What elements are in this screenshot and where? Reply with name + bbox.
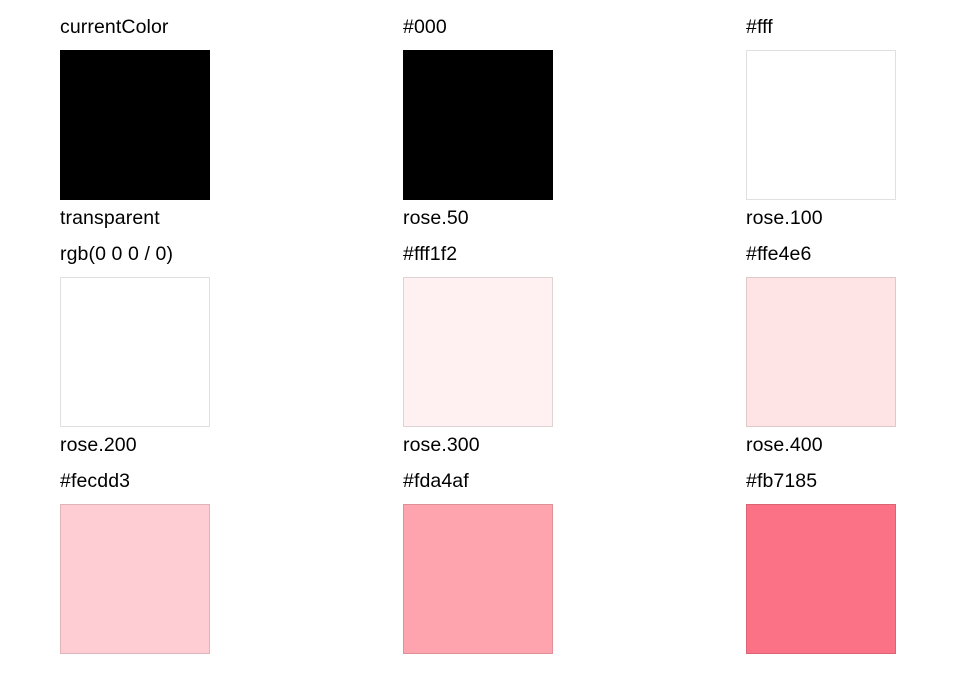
swatch-labels: transparentrgb(0 0 0 / 0) <box>60 200 403 272</box>
swatch-cell: rose.400#fb7185 <box>746 427 964 654</box>
swatch-value-label: #fb7185 <box>746 463 964 499</box>
swatch-name-label: rose.300 <box>403 427 746 463</box>
swatch-cell: #000 <box>403 9 746 200</box>
swatch-labels: currentColor <box>60 9 403 45</box>
swatch-value-label: rgb(0 0 0 / 0) <box>60 236 403 272</box>
swatch-cell: rose.100#ffe4e6 <box>746 200 964 427</box>
color-swatch[interactable] <box>746 277 896 427</box>
color-swatch[interactable] <box>60 504 210 654</box>
swatch-cell: rose.300#fda4af <box>403 427 746 654</box>
swatch-value-label: #ffe4e6 <box>746 236 964 272</box>
color-swatch[interactable] <box>403 50 553 200</box>
color-palette-grid: currentColor#000#ffftransparentrgb(0 0 0… <box>0 0 964 654</box>
color-swatch[interactable] <box>746 504 896 654</box>
swatch-name-label: rose.200 <box>60 427 403 463</box>
swatch-cell: currentColor <box>60 9 403 200</box>
swatch-cell: transparentrgb(0 0 0 / 0) <box>60 200 403 427</box>
swatch-labels: #fff <box>746 9 964 45</box>
swatch-cell: rose.200#fecdd3 <box>60 427 403 654</box>
swatch-value-label: #fecdd3 <box>60 463 403 499</box>
color-swatch[interactable] <box>403 277 553 427</box>
swatch-name-label: rose.400 <box>746 427 964 463</box>
swatch-name-label: currentColor <box>60 9 403 45</box>
swatch-value-label: #fff1f2 <box>403 236 746 272</box>
color-swatch[interactable] <box>60 277 210 427</box>
swatch-value-label: #fda4af <box>403 463 746 499</box>
swatch-cell: #fff <box>746 9 964 200</box>
swatch-name-label: rose.100 <box>746 200 964 236</box>
swatch-name-label: rose.50 <box>403 200 746 236</box>
swatch-name-label: transparent <box>60 200 403 236</box>
color-swatch[interactable] <box>60 50 210 200</box>
color-swatch[interactable] <box>746 50 896 200</box>
swatch-name-label: #fff <box>746 9 964 45</box>
color-swatch[interactable] <box>403 504 553 654</box>
swatch-labels: #000 <box>403 9 746 45</box>
swatch-name-label: #000 <box>403 9 746 45</box>
swatch-labels: rose.50#fff1f2 <box>403 200 746 272</box>
swatch-labels: rose.100#ffe4e6 <box>746 200 964 272</box>
swatch-labels: rose.400#fb7185 <box>746 427 964 499</box>
swatch-cell: rose.50#fff1f2 <box>403 200 746 427</box>
swatch-labels: rose.300#fda4af <box>403 427 746 499</box>
swatch-labels: rose.200#fecdd3 <box>60 427 403 499</box>
